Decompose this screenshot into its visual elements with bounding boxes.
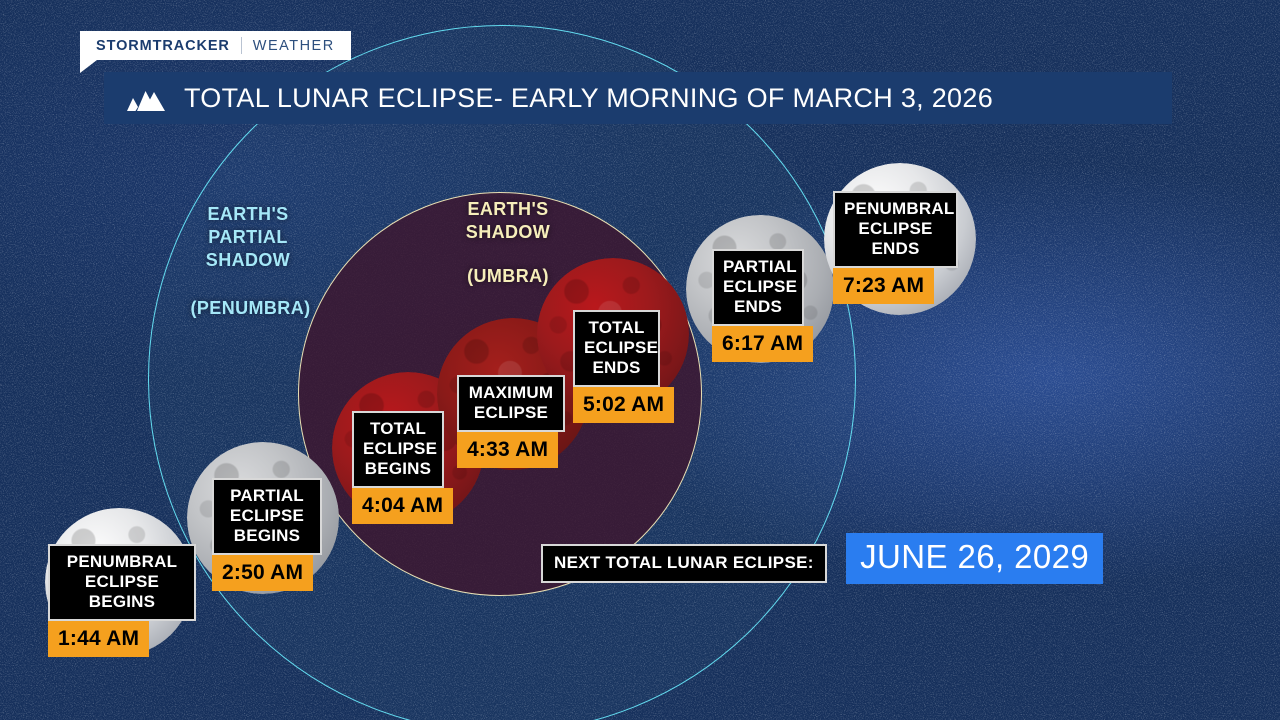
brand-secondary-label: WEATHER [253,38,335,54]
brand-primary-label: STORMTRACKER [96,38,230,54]
phase-name: TOTAL ECLIPSE ENDS [573,310,660,387]
next-eclipse-callout: NEXT TOTAL LUNAR ECLIPSE: JUNE 26, 2029 [541,531,1103,584]
phase-callout-total-ends: TOTAL ECLIPSE ENDS 5:02 AM [573,310,660,423]
phase-time-wrap: 6:17 AM [712,326,804,362]
phase-time-wrap: 1:44 AM [48,621,196,657]
phase-name: MAXIMUM ECLIPSE [457,375,565,432]
mountain-logo-icon [122,81,174,115]
umbra-region-label: EARTH'S SHADOW [428,198,588,244]
phase-time-wrap: 5:02 AM [573,387,660,423]
phase-name: TOTAL ECLIPSE BEGINS [352,411,444,488]
next-eclipse-label: NEXT TOTAL LUNAR ECLIPSE: [541,544,827,583]
phase-time-badge: 4:33 AM [457,432,558,468]
phase-time-wrap: 2:50 AM [212,555,322,591]
penumbra-region-label: EARTH'S PARTIAL SHADOW [178,203,318,272]
phase-time-wrap: 7:23 AM [833,268,958,304]
phase-time-badge: 6:17 AM [712,326,813,362]
phase-time-badge: 1:44 AM [48,621,149,657]
title-bar: TOTAL LUNAR ECLIPSE- EARLY MORNING OF MA… [104,72,1172,124]
phase-callout-partial-ends: PARTIAL ECLIPSE ENDS 6:17 AM [712,249,804,362]
phase-callout-maximum-eclipse: MAXIMUM ECLIPSE 4:33 AM [457,375,565,468]
phase-time-badge: 7:23 AM [833,268,934,304]
phase-name: PENUMBRAL ECLIPSE BEGINS [48,544,196,621]
phase-callout-penumbral-ends: PENUMBRAL ECLIPSE ENDS 7:23 AM [833,191,958,304]
umbra-region-sublabel: (UMBRA) [428,265,588,288]
phase-callout-total-begins: TOTAL ECLIPSE BEGINS 4:04 AM [352,411,444,524]
brand-tag-tail [80,60,97,73]
phase-callout-partial-begins: PARTIAL ECLIPSE BEGINS 2:50 AM [212,478,322,591]
penumbra-region-sublabel: (PENUMBRA) [168,297,333,320]
phase-time-badge: 4:04 AM [352,488,453,524]
phase-time-badge: 5:02 AM [573,387,674,423]
phase-callout-penumbral-begins: PENUMBRAL ECLIPSE BEGINS 1:44 AM [48,544,196,657]
next-eclipse-date: JUNE 26, 2029 [846,533,1103,584]
phase-name: PARTIAL ECLIPSE ENDS [712,249,804,326]
brand-tag: STORMTRACKER WEATHER [80,31,351,60]
phase-time-wrap: 4:33 AM [457,432,565,468]
brand-separator [241,37,242,54]
page-title: TOTAL LUNAR ECLIPSE- EARLY MORNING OF MA… [184,83,993,114]
phase-name: PENUMBRAL ECLIPSE ENDS [833,191,958,268]
phase-time-badge: 2:50 AM [212,555,313,591]
lunar-eclipse-graphic: EARTH'S PARTIAL SHADOW (PENUMBRA) EARTH'… [0,0,1280,720]
phase-time-wrap: 4:04 AM [352,488,444,524]
phase-name: PARTIAL ECLIPSE BEGINS [212,478,322,555]
